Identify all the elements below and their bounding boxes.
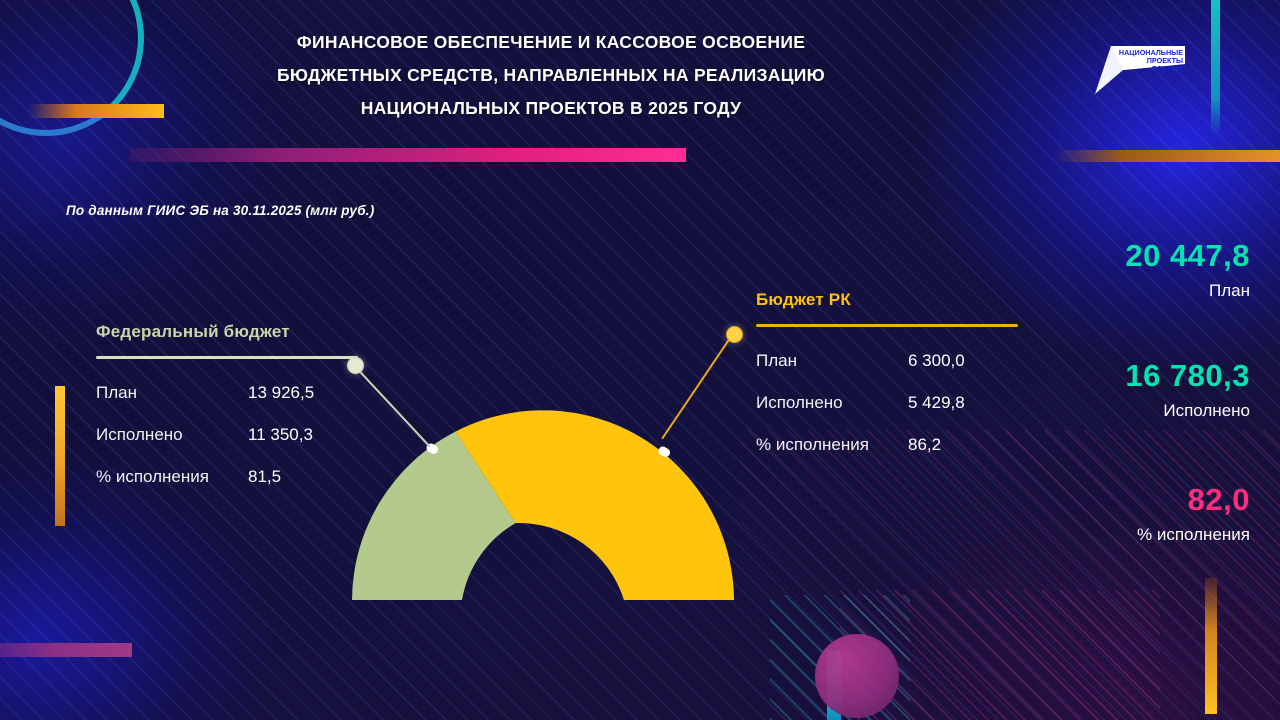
table-row: % исполнения 81,5	[96, 467, 396, 487]
magenta-bar-header	[130, 148, 686, 162]
orange-bar-bottom-right-vertical	[1205, 578, 1217, 714]
summary-percent-caption: % исполнения	[1137, 525, 1250, 545]
page-title: ФИНАНСОВОЕ ОБЕСПЕЧЕНИЕ И КАССОВОЕ ОСВОЕН…	[270, 26, 832, 125]
panel-federal-budget: Федеральный бюджет План 13 926,5 Исполне…	[96, 322, 396, 509]
summary-percent-value: 82,0	[1137, 482, 1250, 518]
summary-plan-value: 20 447,8	[1125, 238, 1250, 274]
table-row: Исполнено 11 350,3	[96, 425, 396, 445]
summary-total-percent: 82,0 % исполнения	[1137, 482, 1250, 545]
row-label: Исполнено	[96, 425, 248, 445]
row-value: 81,5	[248, 467, 281, 487]
table-row: План 6 300,0	[756, 351, 1056, 371]
page-title-line-3: НАЦИОНАЛЬНЫХ ПРОЕКТОВ В 2025 ГОДУ	[270, 92, 832, 125]
purple-circle-decoration	[815, 634, 899, 718]
orange-bar-top-right	[1055, 150, 1280, 162]
orange-bar-left-vertical	[55, 386, 65, 526]
logo-line-3: РОССИИ	[1152, 64, 1183, 73]
summary-executed-value: 16 780,3	[1125, 358, 1250, 394]
teal-stripe-top-right	[1211, 0, 1220, 135]
node-rk	[726, 326, 743, 343]
row-label: План	[96, 383, 248, 403]
panel-rk-rule	[756, 324, 1018, 327]
panel-federal-heading: Федеральный бюджет	[96, 322, 396, 342]
row-label: Исполнено	[756, 393, 908, 413]
table-row: План 13 926,5	[96, 383, 396, 403]
row-label: % исполнения	[756, 435, 908, 455]
row-value: 5 429,8	[908, 393, 965, 413]
slide-canvas: ФИНАНСОВОЕ ОБЕСПЕЧЕНИЕ И КАССОВОЕ ОСВОЕН…	[0, 0, 1280, 720]
page-title-line-1: ФИНАНСОВОЕ ОБЕСПЕЧЕНИЕ И КАССОВОЕ ОСВОЕН…	[270, 26, 832, 59]
row-value: 13 926,5	[248, 383, 314, 403]
panel-rk-heading: Бюджет РК	[756, 290, 1056, 310]
panel-rk-rows: План 6 300,0 Исполнено 5 429,8 % исполне…	[756, 351, 1056, 455]
summary-total-executed: 16 780,3 Исполнено	[1125, 358, 1250, 421]
page-title-line-2: БЮДЖЕТНЫХ СРЕДСТВ, НАПРАВЛЕННЫХ НА РЕАЛИ…	[270, 59, 832, 92]
summary-executed-caption: Исполнено	[1125, 401, 1250, 421]
row-value: 6 300,0	[908, 351, 965, 371]
panel-federal-rule	[96, 356, 358, 359]
summary-plan-caption: План	[1125, 281, 1250, 301]
row-value: 11 350,3	[248, 425, 313, 445]
orange-bar-top-left	[28, 104, 164, 118]
arc-anchor-dot-rk	[661, 448, 670, 457]
panel-rk-budget: Бюджет РК План 6 300,0 Исполнено 5 429,8…	[756, 290, 1056, 477]
row-label: % исполнения	[96, 467, 248, 487]
row-label: План	[756, 351, 908, 371]
arc-anchor-dot-federal	[429, 445, 438, 454]
panel-federal-rows: План 13 926,5 Исполнено 11 350,3 % испол…	[96, 383, 396, 487]
data-source-note: По данным ГИИС ЭБ на 30.11.2025 (млн руб…	[66, 203, 374, 218]
row-value: 86,2	[908, 435, 941, 455]
purple-bar-bottom-left	[0, 643, 132, 657]
national-projects-russia-logo: НАЦИОНАЛЬНЫЕ ПРОЕКТЫ РОССИИ	[1087, 24, 1191, 98]
summary-total-plan: 20 447,8 План	[1125, 238, 1250, 301]
table-row: % исполнения 86,2	[756, 435, 1056, 455]
table-row: Исполнено 5 429,8	[756, 393, 1056, 413]
